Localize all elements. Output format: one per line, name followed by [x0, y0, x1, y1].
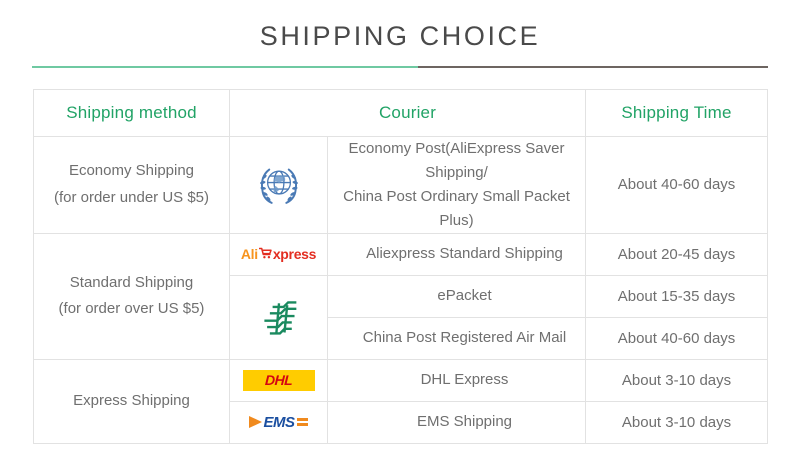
- shipping-choice-page: SHIPPING CHOICE Shipping method Courier …: [0, 0, 800, 466]
- aliexpress-logo-text-xpress: xpress: [273, 247, 316, 261]
- ems-logo-box: EMS: [230, 411, 327, 433]
- courier-name-aliexpress-standard: Aliexpress Standard Shipping: [328, 233, 586, 275]
- divider-gray-segment: [418, 66, 768, 68]
- method-label-line2: (for order under US $5): [34, 185, 229, 211]
- courier-logo-cell-aliexpress: Ali xpress: [230, 233, 328, 275]
- chinapost-logo-icon: [257, 296, 301, 338]
- aliexpress-logo-icon: Ali xpress: [241, 247, 316, 261]
- shipping-table: Shipping method Courier Shipping Time Ec…: [33, 89, 768, 444]
- chinapost-logo-box: [230, 296, 327, 338]
- page-title: SHIPPING CHOICE: [260, 22, 541, 52]
- header-shipping-time: Shipping Time: [586, 89, 768, 136]
- method-label-line1: Standard Shipping: [34, 270, 229, 296]
- shipping-time-aliexpress-standard: About 20-45 days: [586, 233, 768, 275]
- table-header-row: Shipping method Courier Shipping Time: [34, 89, 768, 136]
- header-shipping-method: Shipping method: [34, 89, 230, 136]
- aliexpress-logo-box: Ali xpress: [230, 247, 327, 261]
- shipping-table-wrapper: Shipping method Courier Shipping Time Ec…: [33, 89, 767, 444]
- shipping-time-ems-shipping: About 3-10 days: [586, 401, 768, 443]
- shipping-time-dhl-express: About 3-10 days: [586, 359, 768, 401]
- table-row: Standard Shipping (for order over US $5)…: [34, 233, 768, 275]
- method-label-line1: Express Shipping: [34, 388, 229, 414]
- shipping-time-epacket: About 15-35 days: [586, 275, 768, 317]
- ems-triangle-shape: [249, 416, 262, 428]
- courier-logo-cell-upu: [230, 136, 328, 233]
- ems-logo-icon: EMS: [249, 411, 307, 433]
- method-cell-economy: Economy Shipping (for order under US $5): [34, 136, 230, 233]
- dhl-logo-text: DHL: [264, 373, 292, 387]
- aliexpress-logo-text-ali: Ali: [241, 247, 258, 261]
- courier-logo-cell-ems: EMS: [230, 401, 328, 443]
- dhl-logo-box: DHL: [230, 370, 327, 391]
- courier-name-economy-post: Economy Post(AliExpress Saver Shipping/ …: [328, 136, 586, 233]
- table-row: Express Shipping DHL DHL Express About 3…: [34, 359, 768, 401]
- header-courier: Courier: [230, 89, 586, 136]
- courier-logo-cell-dhl: DHL: [230, 359, 328, 401]
- courier-line1: Economy Post(AliExpress Saver Shipping/: [349, 140, 565, 181]
- courier-logo-cell-chinapost: [230, 275, 328, 359]
- method-cell-express: Express Shipping: [34, 359, 230, 443]
- upu-logo-box: [230, 159, 327, 211]
- table-body: Economy Shipping (for order under US $5): [34, 136, 768, 443]
- shopping-cart-icon: [259, 247, 272, 261]
- table-row: Economy Shipping (for order under US $5): [34, 136, 768, 233]
- upu-logo-icon: [253, 159, 305, 211]
- method-label-line1: Economy Shipping: [34, 158, 229, 184]
- method-label-line2: (for order over US $5): [34, 296, 229, 322]
- courier-line2: China Post Ordinary Small Packet Plus): [343, 188, 570, 229]
- courier-name-ems-shipping: EMS Shipping: [328, 401, 586, 443]
- courier-name-china-post-registered-air-mail: China Post Registered Air Mail: [328, 317, 586, 359]
- courier-name-epacket: ePacket: [328, 275, 586, 317]
- table-header: Shipping method Courier Shipping Time: [34, 89, 768, 136]
- divider-green-segment: [32, 66, 418, 68]
- title-section: SHIPPING CHOICE: [0, 0, 800, 68]
- dhl-logo-icon: DHL: [243, 370, 315, 391]
- shipping-time-china-post-registered-air-mail: About 40-60 days: [586, 317, 768, 359]
- shipping-time-economy: About 40-60 days: [586, 136, 768, 233]
- ems-bars-shape: [297, 418, 308, 426]
- method-cell-standard: Standard Shipping (for order over US $5): [34, 233, 230, 359]
- courier-name-dhl-express: DHL Express: [328, 359, 586, 401]
- ems-logo-text: EMS: [263, 415, 294, 430]
- title-divider: [32, 66, 768, 68]
